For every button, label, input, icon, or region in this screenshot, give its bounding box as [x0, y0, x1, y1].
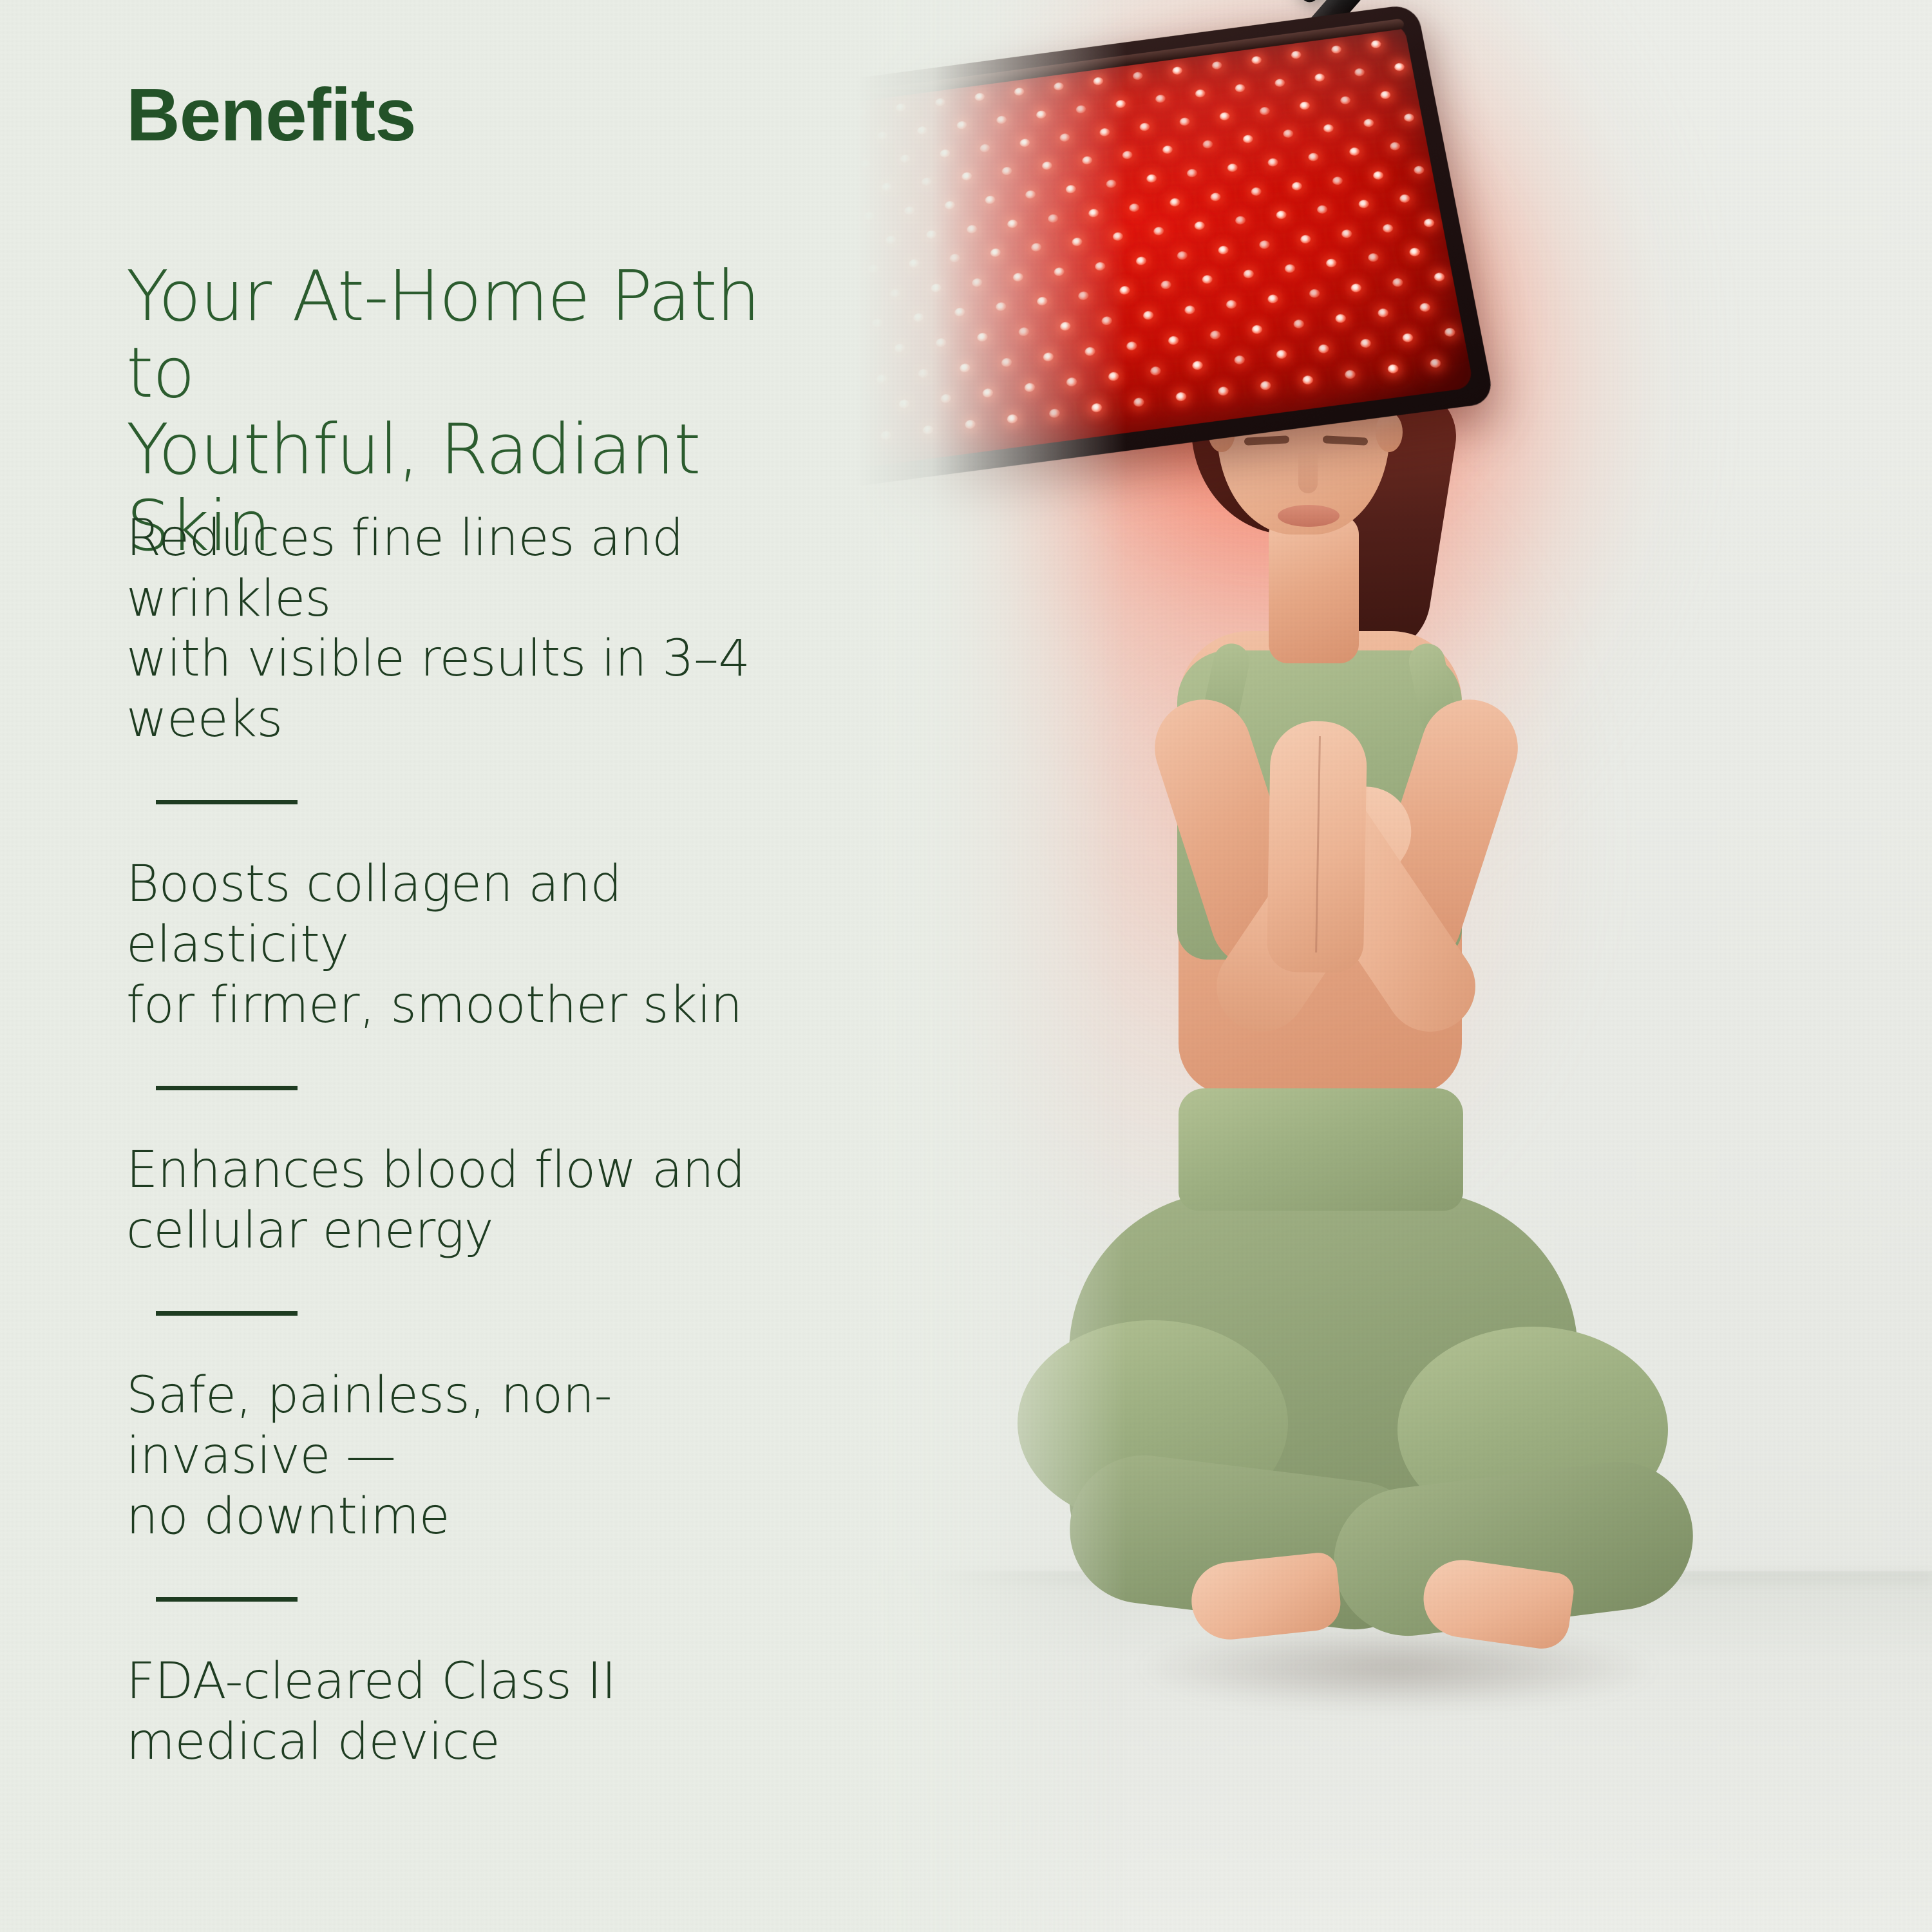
benefit-text: Reduces fine lines and wrinkles with vis…: [126, 509, 809, 750]
benefit-divider: [156, 800, 298, 804]
benefits-list: Reduces fine lines and wrinkles with vis…: [126, 509, 809, 1772]
lips: [1278, 505, 1340, 527]
benefit-text: FDA-cleared Class II medical device: [126, 1652, 809, 1772]
benefit-text: Boosts collagen and elasticity for firme…: [126, 855, 809, 1036]
benefit-divider: [156, 1311, 298, 1316]
eyebrow-label: Benefits: [126, 77, 416, 152]
led-grid: [857, 23, 1474, 468]
neck: [1269, 515, 1359, 663]
prayer-hands: [1267, 721, 1368, 974]
benefit-item-fda: FDA-cleared Class II medical device: [126, 1652, 809, 1772]
benefit-item-wrinkles: Reduces fine lines and wrinkles with vis…: [126, 509, 809, 750]
waistband: [1179, 1088, 1463, 1211]
benefit-item-safety: Safe, painless, non-invasive — no downti…: [126, 1366, 809, 1547]
benefit-text: Safe, painless, non-invasive — no downti…: [126, 1366, 809, 1547]
led-panel-housing: [857, 3, 1495, 488]
benefit-divider: [156, 1597, 298, 1602]
benefit-divider: [156, 1086, 298, 1090]
benefit-text: Enhances blood flow and cellular energy: [126, 1141, 809, 1261]
poster-canvas: Benefits Your At-Home Path to Youthful, …: [0, 0, 1932, 1932]
led-panel-face: [857, 23, 1474, 468]
benefit-item-collagen: Boosts collagen and elasticity for firme…: [126, 855, 809, 1036]
benefit-item-bloodflow: Enhances blood flow and cellular energy: [126, 1141, 809, 1261]
product-photo: [857, 0, 1932, 1932]
text-column: Benefits Your At-Home Path to Youthful, …: [0, 0, 857, 1932]
